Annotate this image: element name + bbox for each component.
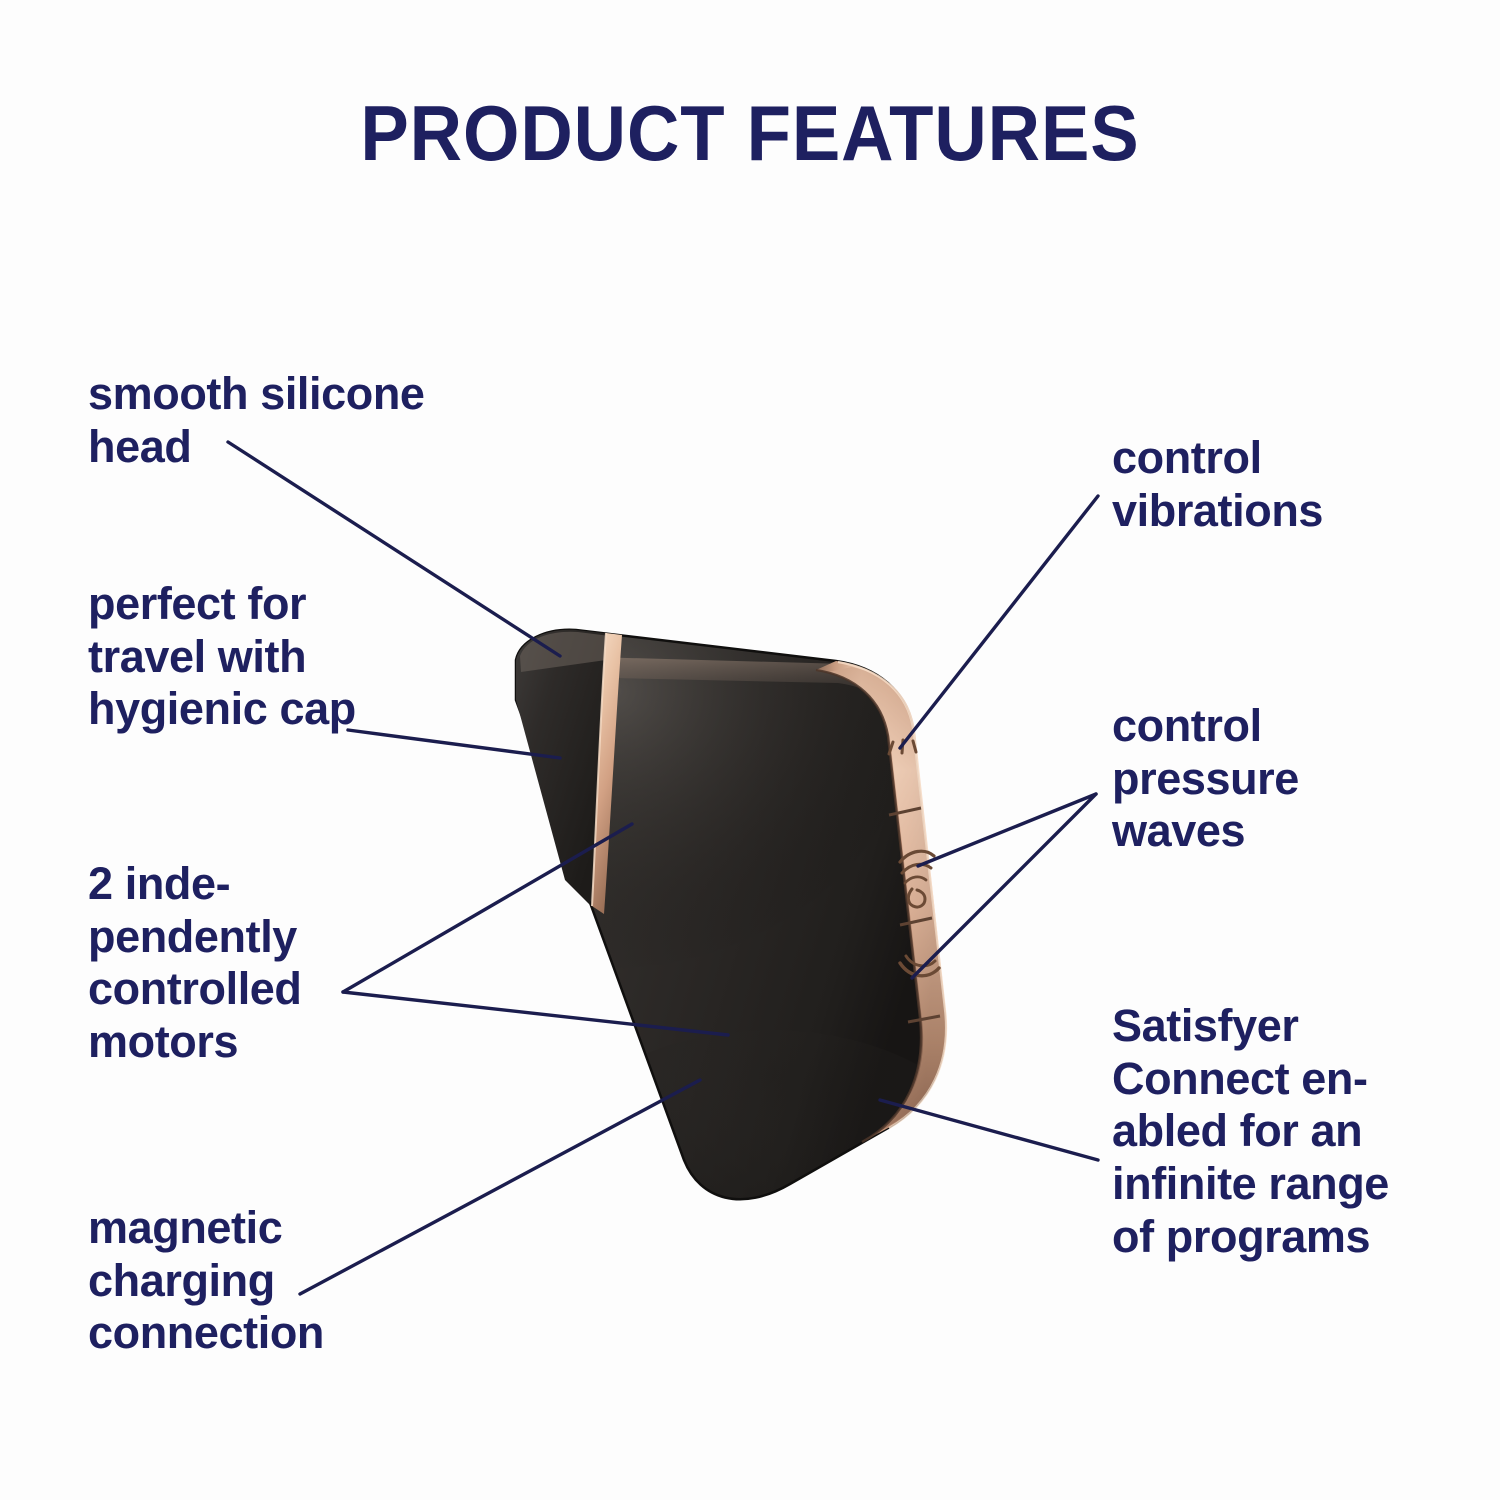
callout-control-vibrations: control vibrations [1112,432,1452,537]
callout-smooth-silicone-head: smooth silicone head [88,368,508,473]
callout-travel-cap: perfect for travel with hygienic cap [88,578,488,736]
product-features-page: PRODUCT FEATURES [0,0,1500,1500]
callout-control-pressure-waves: control pressure waves [1112,700,1442,858]
callout-motors: 2 inde- pendently controlled motors [88,858,418,1069]
callout-satisfyer-connect: Satisfyer Connect en- abled for an infin… [1112,1000,1472,1263]
callout-magnetic-charging: magnetic charging connection [88,1202,448,1360]
